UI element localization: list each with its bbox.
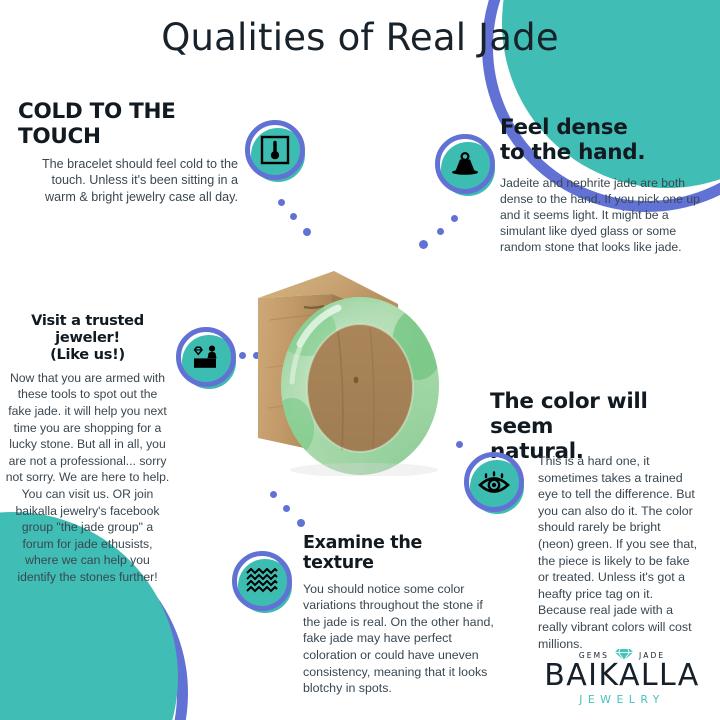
section-examine-texture: Examine the texture You should notice so… — [303, 533, 498, 697]
section-cold-body: The bracelet should feel cold to the tou… — [18, 156, 238, 206]
thermometer-badge — [245, 120, 307, 182]
logo-subtitle: JEWELRY — [542, 693, 702, 706]
dot-trail-dot — [278, 199, 285, 206]
jeweler-counter-icon — [176, 327, 236, 387]
dot-trail-dot — [456, 441, 463, 448]
section-jeweler-body: Now that you are armed with these tools … — [5, 370, 170, 586]
section-jeweler-heading-line1: Visit a trusted jeweler! — [5, 313, 170, 347]
dot-trail-dot — [303, 228, 311, 236]
jeweler-badge — [176, 327, 238, 389]
dot-trail-dot — [297, 519, 305, 527]
weight-icon — [435, 134, 495, 194]
dot-trail-dot — [239, 352, 246, 359]
section-feel-dense: Feel dense to the hand. Jadeite and neph… — [500, 116, 705, 255]
weight-badge — [435, 134, 497, 196]
eye-badge — [464, 452, 526, 514]
dot-trail-dot — [451, 215, 458, 222]
section-dense-body: Jadeite and nephrite jade are both dense… — [500, 175, 705, 255]
section-texture-body: You should notice some color variations … — [303, 581, 498, 697]
section-cold-heading: COLD TO THE TOUCH — [18, 100, 238, 150]
zigzag-texture-icon — [232, 551, 292, 611]
thermometer-icon — [245, 120, 305, 180]
brand-logo: GEMS JADE BAIKALLA JEWELRY — [542, 648, 702, 706]
dot-trail-dot — [437, 228, 444, 235]
eye-icon — [464, 452, 524, 512]
section-texture-heading: Examine the texture — [303, 533, 498, 574]
section-color-natural-body-block: This is a hard one, it sometimes takes a… — [538, 453, 698, 652]
section-color-heading-line1: The color will seem — [490, 390, 705, 440]
infographic-canvas: Qualities of Real Jade COLD TO THE TOUCH… — [0, 0, 720, 720]
dot-trail-dot — [283, 505, 290, 512]
dot-trail-dot — [270, 491, 277, 498]
section-cold-to-the-touch: COLD TO THE TOUCH The bracelet should fe… — [18, 100, 238, 206]
texture-badge — [232, 551, 294, 613]
section-color-body: This is a hard one, it sometimes takes a… — [538, 453, 698, 652]
section-jeweler-heading-line2: (Like us!) — [5, 347, 170, 364]
section-visit-jeweler: Visit a trusted jeweler! (Like us!) Now … — [5, 313, 170, 585]
logo-wordmark: BAIKALLA — [542, 661, 702, 691]
dot-trail-dot — [290, 213, 297, 220]
jade-bangle-photo — [252, 258, 480, 476]
dot-trail-dot — [419, 240, 428, 249]
section-dense-heading-line1: Feel dense — [500, 116, 705, 141]
section-dense-heading-line2: to the hand. — [500, 141, 705, 166]
page-title: Qualities of Real Jade — [0, 16, 720, 59]
